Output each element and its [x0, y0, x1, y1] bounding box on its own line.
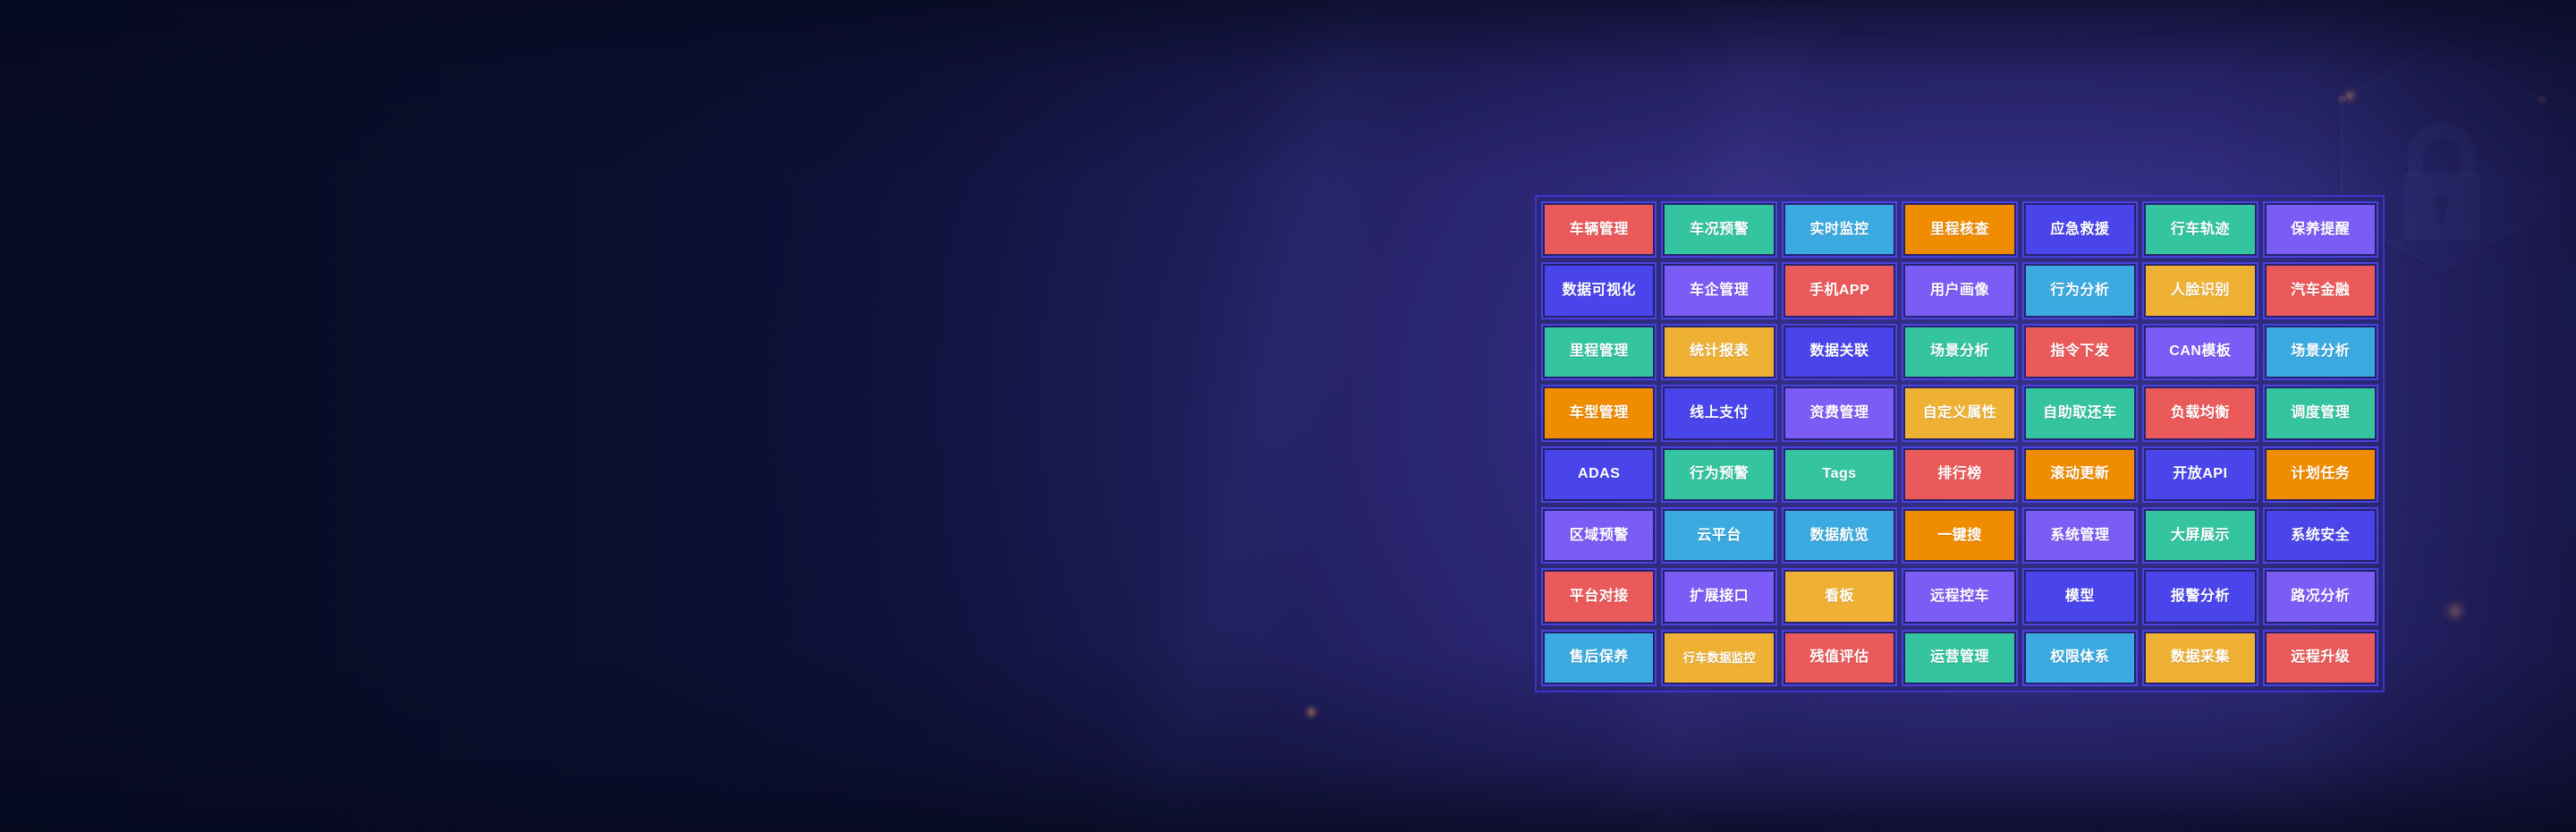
- feature-tile-fill: 系统管理: [2026, 511, 2134, 560]
- feature-tile-fill: 场景分析: [1905, 327, 2013, 377]
- feature-tile-fill: CAN模板: [2146, 327, 2254, 377]
- feature-tile[interactable]: 自助取还车: [2022, 385, 2138, 441]
- feature-tile-fill: 区域预警: [1545, 511, 1653, 560]
- feature-tile-fill: 汽车金融: [2267, 266, 2375, 315]
- feature-tile-fill: 实时监控: [1785, 205, 1894, 254]
- feature-tile-label: 车辆管理: [1570, 223, 1629, 237]
- feature-tile[interactable]: 车况预警: [1661, 201, 1776, 258]
- feature-tile-label: 数据关联: [1810, 344, 1869, 359]
- feature-tile-fill: 数据航览: [1785, 511, 1894, 560]
- feature-tile-label: 统计报表: [1690, 344, 1749, 359]
- feature-tile[interactable]: 区域预警: [1541, 507, 1657, 564]
- feature-tile-label: 里程管理: [1570, 344, 1629, 359]
- feature-tile-fill: 一键搜: [1905, 511, 2013, 560]
- feature-tile[interactable]: 残值评估: [1782, 630, 1897, 686]
- feature-tile[interactable]: 数据采集: [2142, 630, 2258, 686]
- feature-tile-fill: 售后保养: [1545, 633, 1653, 683]
- feature-tile-label: 大屏展示: [2171, 529, 2230, 543]
- feature-tile[interactable]: 计划任务: [2263, 446, 2378, 503]
- feature-tile-fill: 行为分析: [2026, 266, 2134, 315]
- feature-tile-fill: 手机APP: [1785, 266, 1894, 315]
- feature-tile[interactable]: 运营管理: [1902, 630, 2017, 686]
- feature-tile-fill: 人脸识别: [2146, 266, 2254, 315]
- feature-tile-fill: 统计报表: [1665, 327, 1773, 377]
- feature-tile-label: 人脸识别: [2171, 284, 2230, 298]
- feature-tile-label: 运营管理: [1930, 650, 1989, 665]
- feature-tile[interactable]: 远程升级: [2263, 630, 2378, 686]
- feature-tile-label: 车型管理: [1570, 406, 1629, 420]
- feature-tile-fill: 场景分析: [2267, 327, 2375, 377]
- feature-tile-label: 残值评估: [1810, 650, 1869, 665]
- feature-tile-label: 车况预警: [1690, 223, 1749, 237]
- feature-tile[interactable]: 系统安全: [2263, 507, 2378, 564]
- feature-tile[interactable]: 扩展接口: [1661, 568, 1776, 624]
- feature-tile-label: 售后保养: [1570, 650, 1629, 665]
- feature-tile-label: 自助取还车: [2043, 406, 2117, 420]
- feature-tile-fill: 自定义属性: [1905, 388, 2013, 437]
- feature-tile[interactable]: 报警分析: [2142, 568, 2258, 624]
- feature-tile[interactable]: 保养提醒: [2263, 201, 2378, 258]
- feature-tile-fill: 里程管理: [1545, 327, 1653, 377]
- feature-tile[interactable]: 人脸识别: [2142, 262, 2258, 318]
- feature-tile-fill: 远程控车: [1905, 572, 2013, 621]
- feature-tile-label: 扩展接口: [1690, 590, 1749, 604]
- feature-tile[interactable]: 里程管理: [1541, 324, 1657, 380]
- feature-tile[interactable]: CAN模板: [2142, 324, 2258, 380]
- feature-tile-label: 汽车金融: [2291, 284, 2350, 298]
- feature-tile-label: 云平台: [1697, 529, 1741, 543]
- feature-tile-fill: 行车轨迹: [2146, 205, 2254, 254]
- feature-tile[interactable]: 车企管理: [1661, 262, 1776, 318]
- feature-tile-fill: 残值评估: [1785, 633, 1894, 683]
- feature-tile-fill: 数据可视化: [1545, 266, 1653, 315]
- feature-tile-label: 行车数据监控: [1683, 652, 1756, 665]
- feature-tile-fill: 计划任务: [2267, 450, 2375, 499]
- feature-tile[interactable]: 云平台: [1661, 507, 1776, 564]
- feature-tile-label: 行为分析: [2050, 284, 2109, 298]
- feature-tile[interactable]: 场景分析: [2263, 324, 2378, 380]
- feature-tile[interactable]: 行为分析: [2022, 262, 2138, 318]
- feature-tile-label: 行车轨迹: [2171, 223, 2230, 237]
- feature-tile[interactable]: 大屏展示: [2142, 507, 2258, 564]
- feature-tile[interactable]: 汽车金融: [2263, 262, 2378, 318]
- feature-tile[interactable]: 排行榜: [1902, 446, 2017, 503]
- feature-tile-label: 资费管理: [1810, 406, 1869, 420]
- feature-tile[interactable]: 数据可视化: [1541, 262, 1657, 318]
- feature-tile[interactable]: 行为预警: [1661, 446, 1776, 503]
- feature-tile[interactable]: 看板: [1782, 568, 1897, 624]
- feature-tile[interactable]: Tags: [1782, 446, 1897, 503]
- feature-tile-fill: Tags: [1785, 450, 1894, 499]
- feature-tile-label: Tags: [1822, 467, 1856, 481]
- feature-tile-fill: 线上支付: [1665, 388, 1773, 437]
- feature-tile-label: 数据可视化: [1562, 284, 1636, 298]
- feature-tile-fill: 车辆管理: [1545, 205, 1653, 254]
- feature-tile-fill: 负载均衡: [2146, 388, 2254, 437]
- feature-tile-label: 应急救援: [2050, 223, 2109, 237]
- feature-tile-label: 行为预警: [1690, 467, 1749, 481]
- feature-tile-label: 区域预警: [1570, 529, 1629, 543]
- feature-tile[interactable]: 一键搜: [1902, 507, 2017, 564]
- feature-tile[interactable]: 里程核查: [1902, 201, 2017, 258]
- feature-tile-label: 数据航览: [1810, 529, 1869, 543]
- feature-tile[interactable]: 手机APP: [1782, 262, 1897, 318]
- feature-tile-fill: 资费管理: [1785, 388, 1894, 437]
- feature-tile-label: 数据采集: [2171, 650, 2230, 665]
- feature-tile-label: 保养提醒: [2291, 223, 2350, 237]
- feature-tile-label: 路况分析: [2291, 590, 2350, 604]
- feature-tile[interactable]: 实时监控: [1782, 201, 1897, 258]
- feature-tile[interactable]: 车型管理: [1541, 385, 1657, 441]
- feature-tile-fill: 扩展接口: [1665, 572, 1773, 621]
- feature-tile-label: 远程升级: [2291, 650, 2350, 665]
- feature-tile[interactable]: 开放API: [2142, 446, 2258, 503]
- feature-tile[interactable]: 线上支付: [1661, 385, 1776, 441]
- feature-tile[interactable]: 行车数据监控: [1661, 630, 1776, 686]
- feature-tile-label: 一键搜: [1937, 529, 1982, 543]
- feature-tile-fill: 报警分析: [2146, 572, 2254, 621]
- feature-tile[interactable]: 远程控车: [1902, 568, 2017, 624]
- feature-tile-fill: 看板: [1785, 572, 1894, 621]
- feature-tile-fill: 排行榜: [1905, 450, 2013, 499]
- feature-tile-fill: 车型管理: [1545, 388, 1653, 437]
- feature-tile-label: 实时监控: [1810, 223, 1869, 237]
- feature-tile-label: CAN模板: [2169, 344, 2231, 359]
- feature-tile[interactable]: ADAS: [1541, 446, 1657, 503]
- feature-tile[interactable]: 调度管理: [2263, 385, 2378, 441]
- feature-tile-fill: 系统安全: [2267, 511, 2375, 560]
- feature-tile[interactable]: 平台对接: [1541, 568, 1657, 624]
- feature-tile-fill: 远程升级: [2267, 633, 2375, 683]
- feature-tile-fill: 行车数据监控: [1665, 633, 1773, 683]
- feature-tile-fill: 调度管理: [2267, 388, 2375, 437]
- feature-tile-fill: ADAS: [1545, 450, 1653, 499]
- feature-tile[interactable]: 路况分析: [2263, 568, 2378, 624]
- feature-tile-label: 用户画像: [1930, 284, 1989, 298]
- feature-tile-fill: 开放API: [2146, 450, 2254, 499]
- feature-tile[interactable]: 用户画像: [1902, 262, 2017, 318]
- feature-tile-label: 滚动更新: [2050, 467, 2109, 481]
- feature-tile-label: 排行榜: [1937, 467, 1982, 481]
- feature-tile-label: 系统管理: [2050, 529, 2109, 543]
- feature-tile-label: 远程控车: [1930, 590, 1989, 604]
- feature-tile[interactable]: 场景分析: [1902, 324, 2017, 380]
- feature-tile[interactable]: 行车轨迹: [2142, 201, 2258, 258]
- feature-tile-label: 权限体系: [2050, 650, 2109, 665]
- feature-tile-label: 报警分析: [2171, 590, 2230, 604]
- feature-tile[interactable]: 售后保养: [1541, 630, 1657, 686]
- feature-tile-label: 自定义属性: [1923, 406, 1997, 420]
- feature-tile-fill: 数据关联: [1785, 327, 1894, 377]
- feature-tile[interactable]: 统计报表: [1661, 324, 1776, 380]
- feature-tile[interactable]: 数据关联: [1782, 324, 1897, 380]
- feature-tile[interactable]: 系统管理: [2022, 507, 2138, 564]
- feature-tile-fill: 应急救援: [2026, 205, 2134, 254]
- feature-tile[interactable]: 资费管理: [1782, 385, 1897, 441]
- feature-tile-label: 里程核查: [1930, 223, 1989, 237]
- feature-tile[interactable]: 权限体系: [2022, 630, 2138, 686]
- feature-tile-label: 场景分析: [2291, 344, 2350, 359]
- feature-tile-label: ADAS: [1578, 467, 1620, 481]
- feature-tile-fill: 云平台: [1665, 511, 1773, 560]
- feature-tile[interactable]: 负载均衡: [2142, 385, 2258, 441]
- feature-tile[interactable]: 数据航览: [1782, 507, 1897, 564]
- feature-tile-fill: 数据采集: [2146, 633, 2254, 683]
- feature-tile-label: 系统安全: [2291, 529, 2350, 543]
- feature-tile[interactable]: 车辆管理: [1541, 201, 1657, 258]
- feature-tile-fill: 路况分析: [2267, 572, 2375, 621]
- feature-tile[interactable]: 滚动更新: [2022, 446, 2138, 503]
- feature-tile-label: 车企管理: [1690, 284, 1749, 298]
- screenshot-stage: 车辆管理车况预警实时监控里程核查应急救援行车轨迹保养提醒数据可视化车企管理手机A…: [0, 0, 2576, 832]
- feature-tile-label: 计划任务: [2291, 467, 2350, 481]
- feature-tile[interactable]: 指令下发: [2022, 324, 2138, 380]
- feature-tile-grid: 车辆管理车况预警实时监控里程核查应急救援行车轨迹保养提醒数据可视化车企管理手机A…: [1535, 195, 2385, 692]
- feature-tile-fill: 用户画像: [1905, 266, 2013, 315]
- feature-tile-label: 模型: [2065, 590, 2095, 604]
- feature-tile-fill: 模型: [2026, 572, 2134, 621]
- feature-tile-fill: 大屏展示: [2146, 511, 2254, 560]
- feature-tile[interactable]: 自定义属性: [1902, 385, 2017, 441]
- feature-tile-fill: 运营管理: [1905, 633, 2013, 683]
- feature-tile-label: 调度管理: [2291, 406, 2350, 420]
- feature-tile-fill: 平台对接: [1545, 572, 1653, 621]
- feature-tile-fill: 车况预警: [1665, 205, 1773, 254]
- feature-tile-label: 开放API: [2173, 467, 2227, 481]
- feature-tile-fill: 车企管理: [1665, 266, 1773, 315]
- feature-tile-label: 负载均衡: [2171, 406, 2230, 420]
- feature-tile-fill: 保养提醒: [2267, 205, 2375, 254]
- feature-tile-fill: 滚动更新: [2026, 450, 2134, 499]
- feature-tile-label: 场景分析: [1930, 344, 1989, 359]
- feature-tile-fill: 自助取还车: [2026, 388, 2134, 437]
- feature-tile-fill: 里程核查: [1905, 205, 2013, 254]
- feature-tile[interactable]: 应急救援: [2022, 201, 2138, 258]
- feature-tile[interactable]: 模型: [2022, 568, 2138, 624]
- feature-tile-label: 线上支付: [1690, 406, 1749, 420]
- feature-tile-fill: 行为预警: [1665, 450, 1773, 499]
- feature-tile-label: 手机APP: [1809, 284, 1869, 298]
- feature-tile-label: 指令下发: [2050, 344, 2109, 359]
- feature-tile-label: 看板: [1825, 590, 1854, 604]
- feature-tile-fill: 权限体系: [2026, 633, 2134, 683]
- feature-tile-label: 平台对接: [1570, 590, 1629, 604]
- feature-tile-fill: 指令下发: [2026, 327, 2134, 377]
